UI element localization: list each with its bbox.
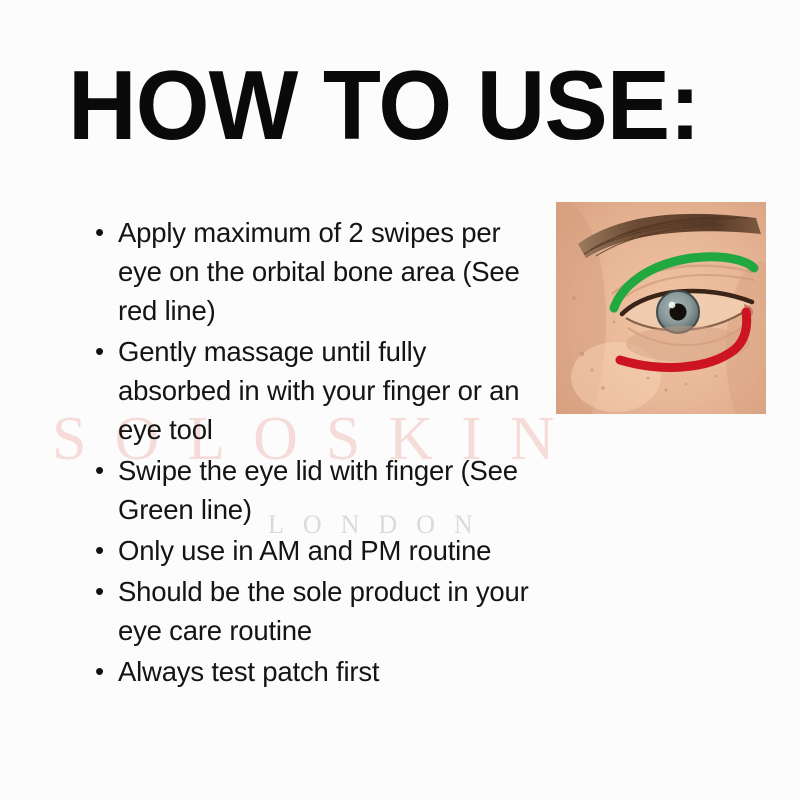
eye-photo-illustration bbox=[556, 202, 766, 414]
list-item: • Gently massage until fully absorbed in… bbox=[88, 332, 538, 449]
list-item: • Apply maximum of 2 swipes per eye on t… bbox=[88, 213, 538, 330]
list-item-text: Only use in AM and PM routine bbox=[118, 531, 538, 570]
list-item-text: Apply maximum of 2 swipes per eye on the… bbox=[118, 213, 538, 330]
list-item: • Should be the sole product in your eye… bbox=[88, 572, 538, 650]
bullet-dot-icon: • bbox=[88, 531, 118, 570]
poster-canvas: SOLOSKIN LONDON HOW TO USE: • Apply maxi… bbox=[0, 0, 800, 800]
list-item-text: Swipe the eye lid with finger (See Green… bbox=[118, 451, 538, 529]
list-item-text: Gently massage until fully absorbed in w… bbox=[118, 332, 538, 449]
eye-photo bbox=[556, 202, 766, 414]
list-item-text: Should be the sole product in your eye c… bbox=[118, 572, 538, 650]
list-item-text: Always test patch first bbox=[118, 652, 538, 691]
bullet-dot-icon: • bbox=[88, 213, 118, 252]
list-item: • Swipe the eye lid with finger (See Gre… bbox=[88, 451, 538, 529]
bullet-dot-icon: • bbox=[88, 652, 118, 691]
bullet-dot-icon: • bbox=[88, 451, 118, 490]
list-item: • Always test patch first bbox=[88, 652, 538, 691]
bullet-dot-icon: • bbox=[88, 332, 118, 371]
instructions-list: • Apply maximum of 2 swipes per eye on t… bbox=[88, 213, 538, 693]
list-item: • Only use in AM and PM routine bbox=[88, 531, 538, 570]
page-title: HOW TO USE: bbox=[68, 56, 700, 154]
bullet-dot-icon: • bbox=[88, 572, 118, 611]
